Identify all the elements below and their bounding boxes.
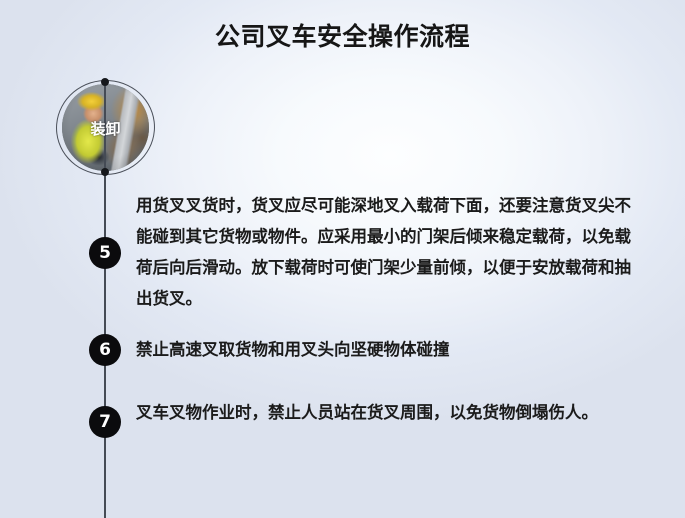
step-text-5: 用货叉叉货时，货叉应尽可能深地叉入载荷下面，还要注意货叉尖不能碰到其它货物或物件…: [136, 190, 631, 314]
step-marker-5: 5: [89, 237, 121, 269]
photo-bubble-label: 装卸: [56, 118, 155, 139]
page-title: 公司叉车安全操作流程: [0, 20, 685, 54]
timeline-node-dot-top: [101, 78, 109, 86]
timeline-connector-line: [104, 86, 106, 518]
step-text-7: 叉车叉物作业时，禁止人员站在货叉周围，以免货物倒塌伤人。: [136, 397, 631, 428]
step-marker-7: 7: [89, 406, 121, 438]
step-marker-6: 6: [89, 334, 121, 366]
step-text-6: 禁止高速叉取货物和用叉头向坚硬物体碰撞: [136, 334, 631, 365]
timeline-node-dot-bottom: [101, 168, 109, 176]
presentation-slide: 公司叉车安全操作流程 装卸 5 用货叉叉货时，货叉应尽可能深地叉入载荷下面，还要…: [0, 0, 685, 518]
